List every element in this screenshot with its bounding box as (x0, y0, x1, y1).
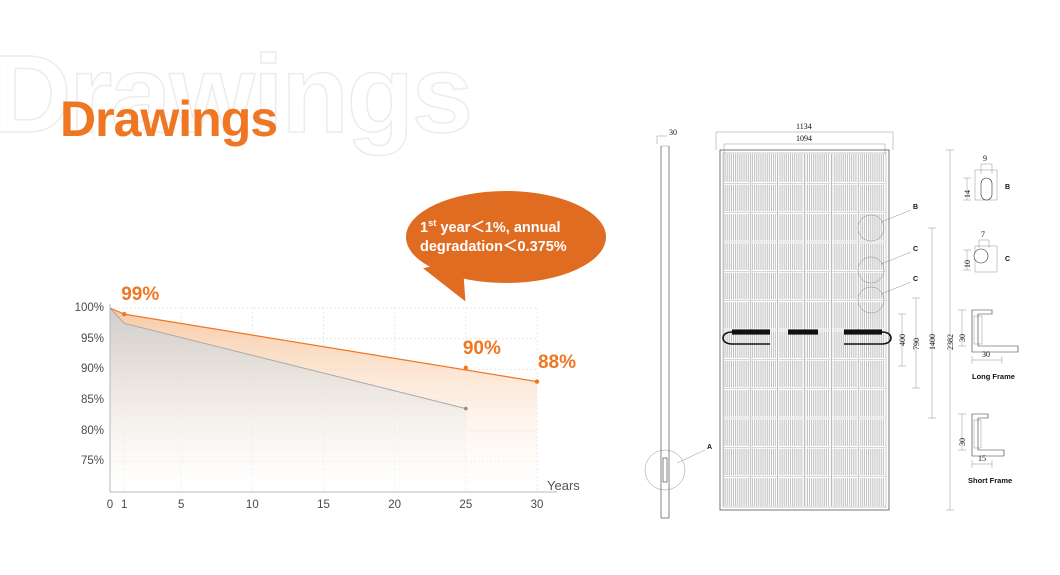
drawing-dimension-label: 30 (958, 438, 967, 446)
drawing-dimension-label: 30 (958, 334, 967, 342)
callout-text: 1st year＜1%, annual degradation＜0.375% (420, 217, 592, 258)
chart-x-tick: 5 (166, 499, 196, 511)
drawing-dimension-label: C (913, 276, 918, 283)
drawing-dimension-label: 15 (978, 454, 986, 463)
chart-point-label: 88% (538, 352, 576, 374)
warranty-chart: Warranty for power output 100%95%90%85%8… (52, 296, 572, 520)
drawing-dimension-label: A (707, 444, 712, 451)
drawing-dimension-label: 14 (963, 190, 972, 198)
chart-y-tick: 80% (60, 425, 104, 437)
drawing-dimension-label: C (913, 246, 918, 253)
chart-x-tick: 1 (109, 499, 139, 511)
drawing-dimension-label: C (1005, 256, 1010, 263)
drawing-dimension-label: 1400 (928, 334, 937, 350)
callout-line2: degradation＜0.375% (420, 239, 567, 255)
drawing-dimension-label: Short Frame (968, 476, 1012, 485)
chart-x-tick: 25 (451, 499, 481, 511)
chart-point-label: 90% (463, 338, 501, 360)
chart-x-axis-label: Years (547, 478, 580, 493)
chart-x-tick: 15 (309, 499, 339, 511)
chart-x-tick: 10 (237, 499, 267, 511)
chart-y-tick: 75% (60, 455, 104, 467)
chart-y-tick: 85% (60, 394, 104, 406)
chart-x-tick: 20 (380, 499, 410, 511)
page-root: Drawings Drawings 1st year＜1%, annual de… (0, 0, 1060, 575)
drawing-dimension-label: 30 (982, 350, 990, 359)
technical-drawing: 30A11341094BCC40079014002382914B710C3030… (640, 118, 1060, 538)
chart-x-tick: 30 (522, 499, 552, 511)
drawing-dimension-label: Long Frame (972, 372, 1015, 381)
drawing-dimension-label: 1134 (796, 122, 812, 131)
drawing-dimension-label: B (913, 204, 918, 211)
drawing-dimension-label: 400 (898, 334, 907, 346)
chart-y-tick: 100% (60, 302, 104, 314)
callout-line1-rest: year＜1%, annual (436, 219, 560, 235)
drawing-dimension-label: 10 (963, 260, 972, 268)
chart-point-label: 99% (121, 284, 159, 306)
drawing-dimension-label: 790 (912, 338, 921, 350)
drawing-dimension-label: 1094 (796, 134, 812, 143)
page-title: Drawings (60, 94, 277, 144)
chart-y-tick: 90% (60, 363, 104, 375)
drawing-dimension-label: 9 (983, 154, 987, 163)
drawing-dimension-label: 2382 (946, 334, 955, 350)
drawing-dimension-label: 7 (981, 230, 985, 239)
callout-line1-prefix: 1 (420, 219, 428, 235)
drawing-dimension-label: 30 (669, 128, 677, 137)
callout-bubble: 1st year＜1%, annual degradation＜0.375% (406, 191, 606, 283)
chart-y-tick: 95% (60, 333, 104, 345)
drawing-dimension-label: B (1005, 184, 1010, 191)
